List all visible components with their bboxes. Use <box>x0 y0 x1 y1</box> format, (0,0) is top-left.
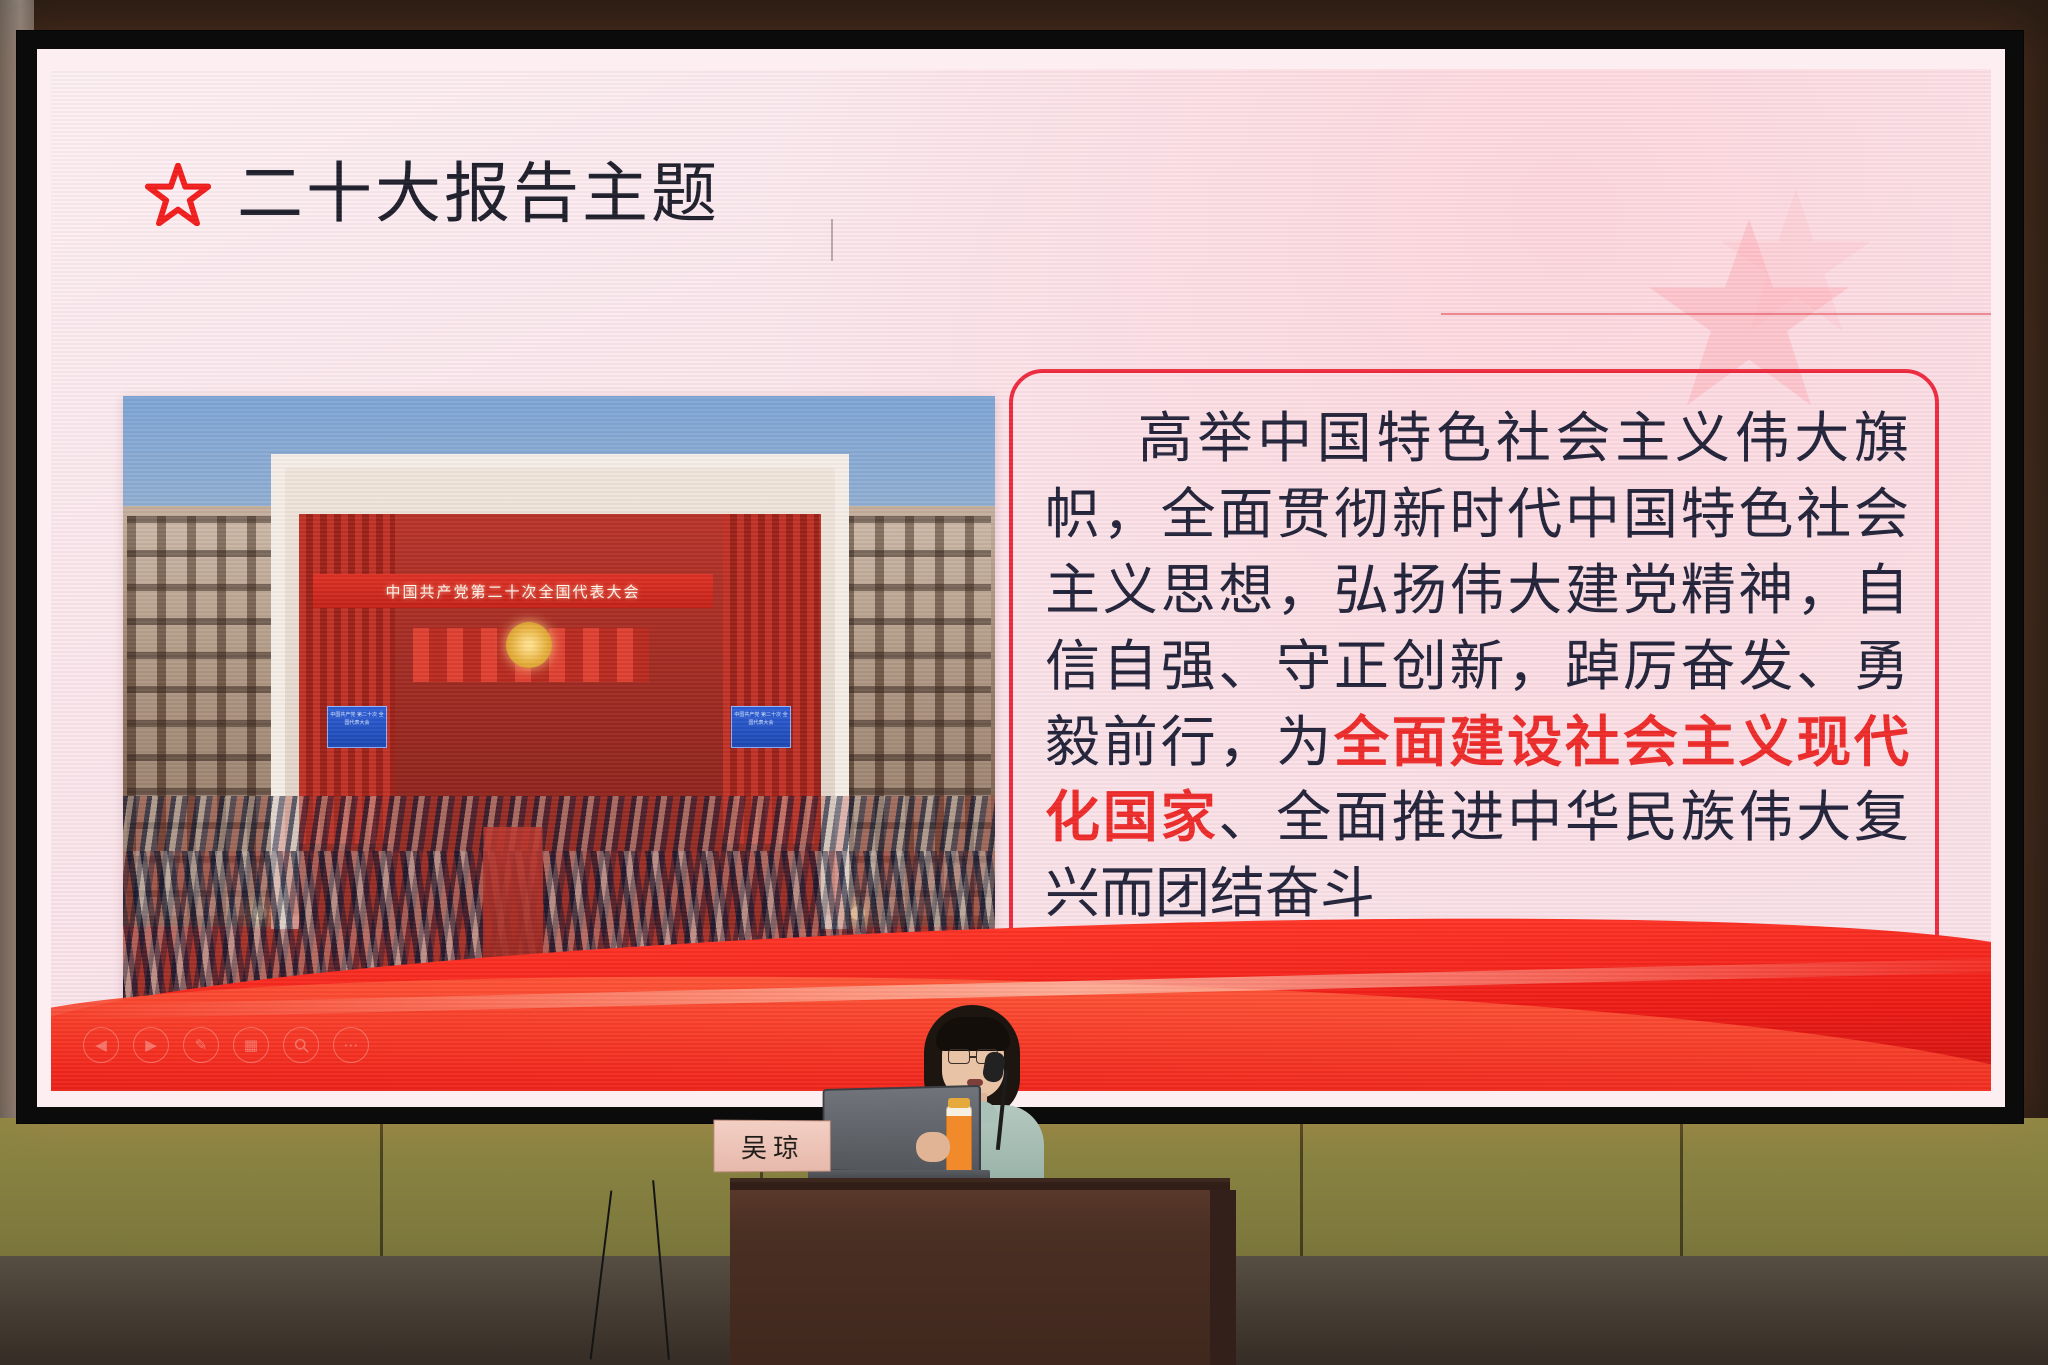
powerpoint-toolbar[interactable]: ◀ ▶ ✎ ▦ ⋯ <box>83 1027 369 1063</box>
zoom-in-button[interactable] <box>283 1027 319 1063</box>
decorative-rule <box>1441 313 1991 315</box>
next-slide-button[interactable]: ▶ <box>133 1027 169 1063</box>
drink-bottle <box>946 1105 972 1177</box>
congress-banner-text: 中国共产党第二十次全国代表大会 <box>313 574 713 608</box>
more-options-button[interactable]: ⋯ <box>333 1027 369 1063</box>
previous-slide-button[interactable]: ◀ <box>83 1027 119 1063</box>
hall-sign-right: 中国共产党 第二十次 全国代表大会 <box>731 706 791 748</box>
slide-title-text: 二十大报告主题 <box>237 161 720 227</box>
lecture-hall-scene: 二十大报告主题 中国共产党第二十次全国代表大会 <box>0 0 2048 1365</box>
pen-tool-button[interactable]: ✎ <box>183 1027 219 1063</box>
title-divider <box>831 219 833 261</box>
slide-title: 二十大报告主题 <box>145 161 720 227</box>
presenter-nameplate: 吴琼 <box>713 1120 830 1173</box>
led-screen-surface[interactable]: 二十大报告主题 中国共产党第二十次全国代表大会 <box>37 49 2005 1107</box>
red-star-outline-icon <box>145 163 211 226</box>
slide-overview-button[interactable]: ▦ <box>233 1027 269 1063</box>
hall-sign-left: 中国共产党 第二十次 全国代表大会 <box>327 706 387 748</box>
presenter-hand <box>916 1132 950 1162</box>
led-screen-frame: 二十大报告主题 中国共产党第二十次全国代表大会 <box>16 30 2024 1124</box>
eyeglasses-icon <box>948 1049 970 1064</box>
party-emblem-icon <box>506 622 552 668</box>
quote-text: 高举中国特色社会主义伟大旗帜，全面贯彻新时代中国特色社会主义思想，弘扬伟大建党精… <box>1019 387 1935 932</box>
podium <box>730 1178 1230 1365</box>
presentation-slide[interactable]: 二十大报告主题 中国共产党第二十次全国代表大会 <box>51 69 1991 1091</box>
